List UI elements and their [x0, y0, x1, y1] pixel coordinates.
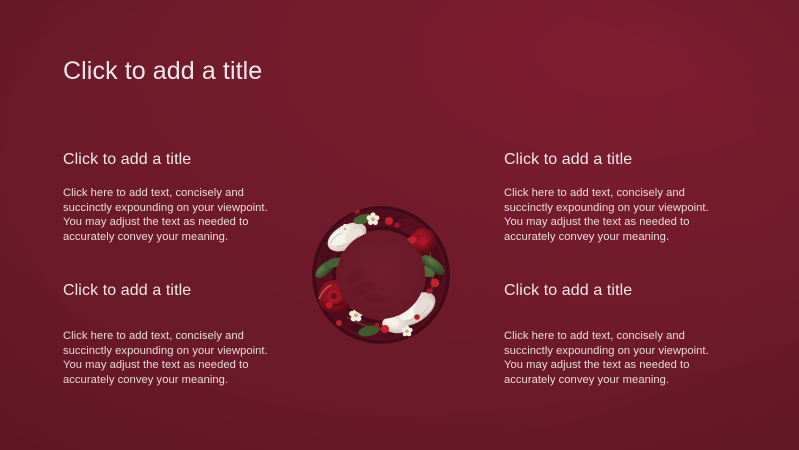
- right-top-title[interactable]: Click to add a title: [504, 151, 632, 169]
- right-bottom-title[interactable]: Click to add a title: [504, 282, 632, 300]
- slide-canvas: Click to add a title Click to add a titl…: [0, 0, 799, 450]
- left-bottom-body[interactable]: Click here to add text, concisely and su…: [63, 329, 275, 387]
- left-top-body[interactable]: Click here to add text, concisely and su…: [63, 186, 275, 244]
- left-bottom-title[interactable]: Click to add a title: [63, 282, 191, 300]
- right-top-body[interactable]: Click here to add text, concisely and su…: [504, 186, 716, 244]
- left-top-title[interactable]: Click to add a title: [63, 151, 191, 169]
- right-bottom-body[interactable]: Click here to add text, concisely and su…: [504, 329, 716, 387]
- floral-wreath-image: [311, 205, 451, 345]
- page-title[interactable]: Click to add a title: [63, 57, 262, 86]
